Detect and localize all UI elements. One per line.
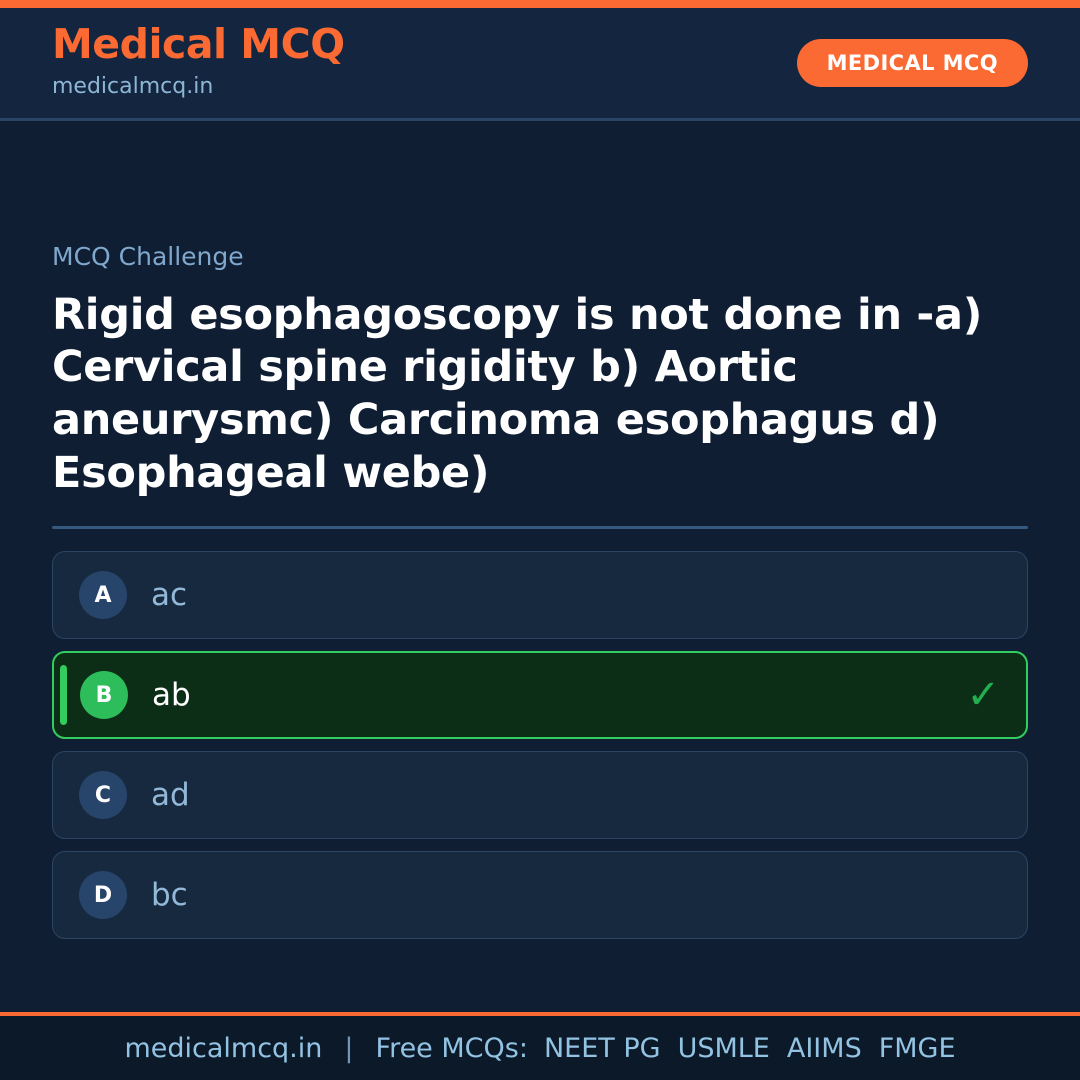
footer-tag-neet-pg[interactable]: NEET PG xyxy=(544,1033,661,1064)
brand-subtitle: medicalmcq.in xyxy=(52,70,345,103)
question-text: Rigid esophagoscopy is not done in -a) C… xyxy=(52,289,1028,501)
options-list: A ac ✓ B ab ✓ C ad ✓ D bc ✓ xyxy=(52,551,1028,939)
main-content: MCQ Challenge Rigid esophagoscopy is not… xyxy=(0,121,1080,1012)
brand-badge: MEDICAL MCQ xyxy=(797,39,1028,87)
correct-accent-bar xyxy=(60,665,67,725)
option-label-a: ac xyxy=(151,577,967,613)
option-row-c[interactable]: C ad ✓ xyxy=(52,751,1028,839)
top-accent-bar xyxy=(0,0,1080,8)
footer-lead: Free MCQs: xyxy=(376,1033,528,1064)
footer-tag-usmle[interactable]: USMLE xyxy=(678,1033,770,1064)
footer-separator: | xyxy=(338,1033,359,1064)
option-label-c: ad xyxy=(151,777,967,813)
page-header: Medical MCQ medicalmcq.in MEDICAL MCQ xyxy=(0,8,1080,121)
option-key-d: D xyxy=(79,871,127,919)
question-divider xyxy=(52,526,1028,529)
brand-block: Medical MCQ medicalmcq.in xyxy=(52,23,345,102)
check-icon: ✓ xyxy=(966,675,1000,715)
page-footer: medicalmcq.in | Free MCQs: NEET PG USMLE… xyxy=(0,1012,1080,1080)
footer-tags: NEET PG USMLE AIIMS FMGE xyxy=(544,1033,956,1064)
footer-site[interactable]: medicalmcq.in xyxy=(124,1033,322,1064)
option-key-c: C xyxy=(79,771,127,819)
option-row-b[interactable]: B ab ✓ xyxy=(52,651,1028,739)
section-kicker: MCQ Challenge xyxy=(52,243,1028,271)
option-row-d[interactable]: D bc ✓ xyxy=(52,851,1028,939)
brand-title: Medical MCQ xyxy=(52,23,345,66)
option-label-b: ab xyxy=(152,677,966,713)
option-row-a[interactable]: A ac ✓ xyxy=(52,551,1028,639)
footer-tag-aiims[interactable]: AIIMS xyxy=(787,1033,862,1064)
option-label-d: bc xyxy=(151,877,967,913)
footer-tag-fmge[interactable]: FMGE xyxy=(879,1033,956,1064)
option-key-a: A xyxy=(79,571,127,619)
option-key-b: B xyxy=(80,671,128,719)
